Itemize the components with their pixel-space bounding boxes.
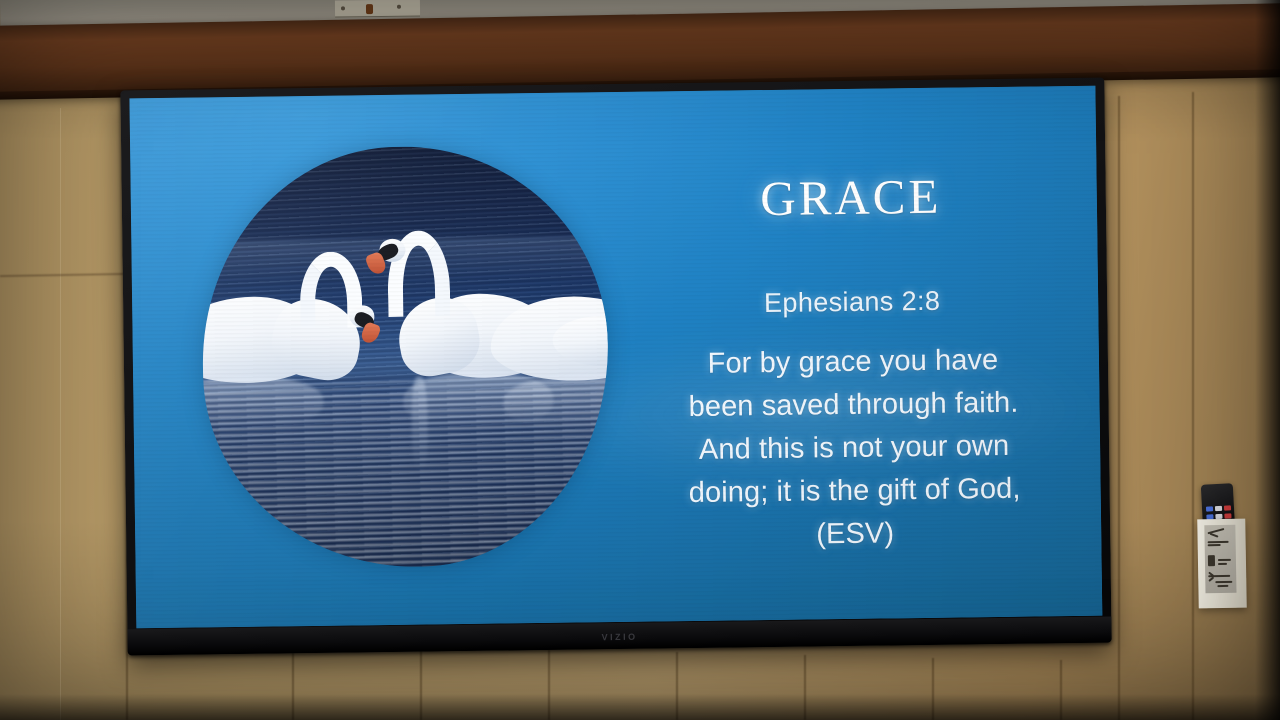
television[interactable]: GRACE Ephesians 2:8 For by grace you hav… xyxy=(120,78,1111,656)
swan-photo xyxy=(200,144,610,569)
scripture-translation: (ESV) xyxy=(615,510,1096,559)
wall-panel-seam xyxy=(1192,92,1194,720)
wall-panel-seam xyxy=(1118,96,1120,720)
slide-scripture-reference: Ephesians 2:8 xyxy=(632,284,1072,321)
tv-brand-logo: VIZIO xyxy=(601,632,637,642)
slide-title: GRACE xyxy=(631,170,1072,225)
slide-scripture-body: For by grace you have been saved through… xyxy=(613,338,1096,559)
handwritten-instruction-card xyxy=(1204,525,1236,594)
scripture-line: doing; it is the gift of God, xyxy=(614,467,1095,516)
right-edge-shadow xyxy=(1255,0,1280,720)
scripture-line: For by grace you have xyxy=(613,338,1094,387)
room-scene: GRACE Ephesians 2:8 For by grace you hav… xyxy=(0,0,1280,720)
scripture-line: And this is not your own xyxy=(614,424,1095,473)
remote-holder[interactable] xyxy=(1197,519,1247,609)
tv-screen[interactable]: GRACE Ephesians 2:8 For by grace you hav… xyxy=(129,86,1102,629)
water-surface-texture xyxy=(203,388,610,570)
wall-panel-highlight xyxy=(60,108,61,720)
bottom-edge-shadow xyxy=(0,694,1280,720)
scripture-line: been saved through faith. xyxy=(613,381,1094,430)
ceiling-mount-plate xyxy=(335,0,420,17)
